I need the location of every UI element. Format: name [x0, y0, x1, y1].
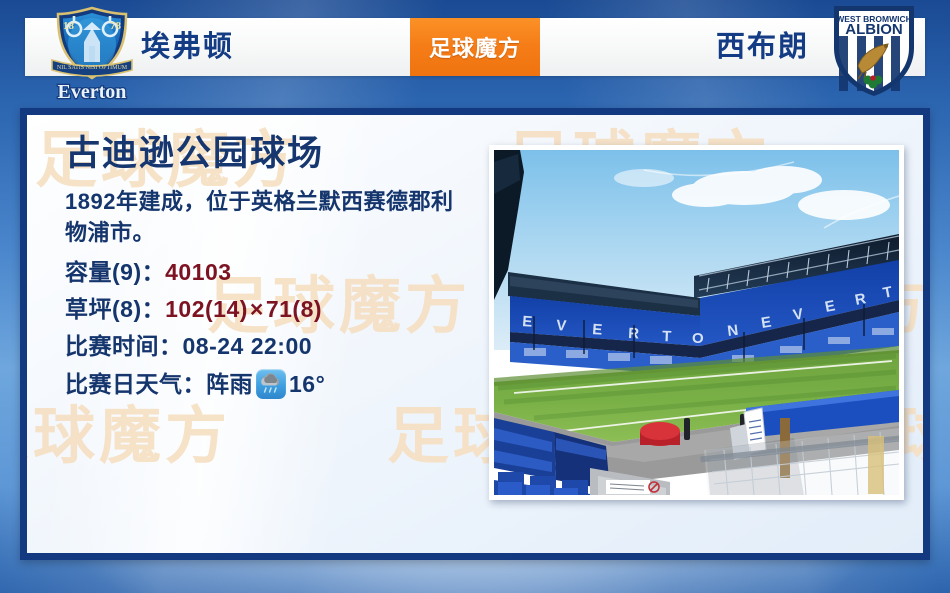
weather-temperature: 16°	[289, 366, 325, 403]
pitch-width: 71(8)	[266, 291, 322, 328]
shower-rain-icon	[256, 369, 286, 399]
pitch-row: 草坪(8)： 102(14) × 71(8)	[65, 291, 485, 328]
page-background: 埃弗顿 足球魔方 西布朗 18 78 NIL	[0, 0, 950, 593]
svg-text:E: E	[522, 313, 533, 331]
svg-text:Everton: Everton	[58, 81, 127, 102]
stadium-photo: E V E R T O N E V E R T	[494, 150, 899, 495]
brand-logo-text: 足球魔方	[429, 31, 521, 63]
away-team-name: 西布朗	[716, 33, 809, 62]
brand-logo-badge[interactable]: 足球魔方	[410, 18, 540, 76]
svg-text:T: T	[662, 328, 672, 345]
capacity-row: 容量(9)： 40103	[65, 254, 485, 291]
everton-crest-svg: 18 78 NIL SATIS NISI OPTIMUM Everton	[38, 2, 146, 102]
match-header-bar: 埃弗顿 足球魔方 西布朗	[25, 18, 925, 76]
weather-condition: 阵雨	[206, 366, 253, 403]
wba-crest-svg: WEST BROMWICH ALBION	[828, 2, 920, 100]
kickoff-value: 08-24 22:00	[183, 328, 313, 365]
stadium-info-panel: 足球魔方 足球魔方 足球魔方 足球魔方 足球魔方 足球魔方 足球魔方 古迪逊公园…	[20, 108, 930, 560]
svg-text:NIL SATIS NISI OPTIMUM: NIL SATIS NISI OPTIMUM	[57, 65, 128, 71]
weather-row: 比赛日天气： 阵雨 16°	[65, 366, 485, 403]
west-bromwich-albion-crest[interactable]: WEST BROMWICH ALBION	[828, 2, 920, 100]
svg-text:V: V	[556, 317, 567, 335]
svg-text:N: N	[726, 322, 739, 340]
capacity-label: 容量(9)：	[65, 254, 165, 291]
stadium-title: 古迪逊公园球场	[65, 135, 485, 174]
shower-rain-glyph	[256, 369, 286, 399]
home-team-name: 埃弗顿	[141, 33, 234, 62]
capacity-value: 40103	[165, 254, 231, 291]
kickoff-label: 比赛时间：	[65, 328, 183, 365]
pitch-length: 102(14)	[165, 291, 248, 328]
svg-text:ALBION: ALBION	[845, 21, 903, 38]
everton-crest[interactable]: 18 78 NIL SATIS NISI OPTIMUM Everton	[38, 2, 146, 102]
pitch-label: 草坪(8)：	[65, 291, 165, 328]
stadium-details: 古迪逊公园球场 1892年建成，位于英格兰默西赛德郡利物浦市。 容量(9)： 4…	[65, 135, 485, 403]
stadium-description: 1892年建成，位于英格兰默西赛德郡利物浦市。	[65, 186, 465, 248]
svg-text:18: 18	[63, 20, 75, 32]
svg-text:E: E	[592, 321, 603, 339]
svg-text:O: O	[692, 330, 704, 347]
svg-text:78: 78	[110, 20, 122, 32]
stadium-photo-frame[interactable]: E V E R T O N E V E R T	[489, 145, 904, 500]
weather-label: 比赛日天气：	[65, 366, 206, 403]
kickoff-row: 比赛时间： 08-24 22:00	[65, 328, 485, 365]
pitch-separator: ×	[248, 291, 266, 328]
